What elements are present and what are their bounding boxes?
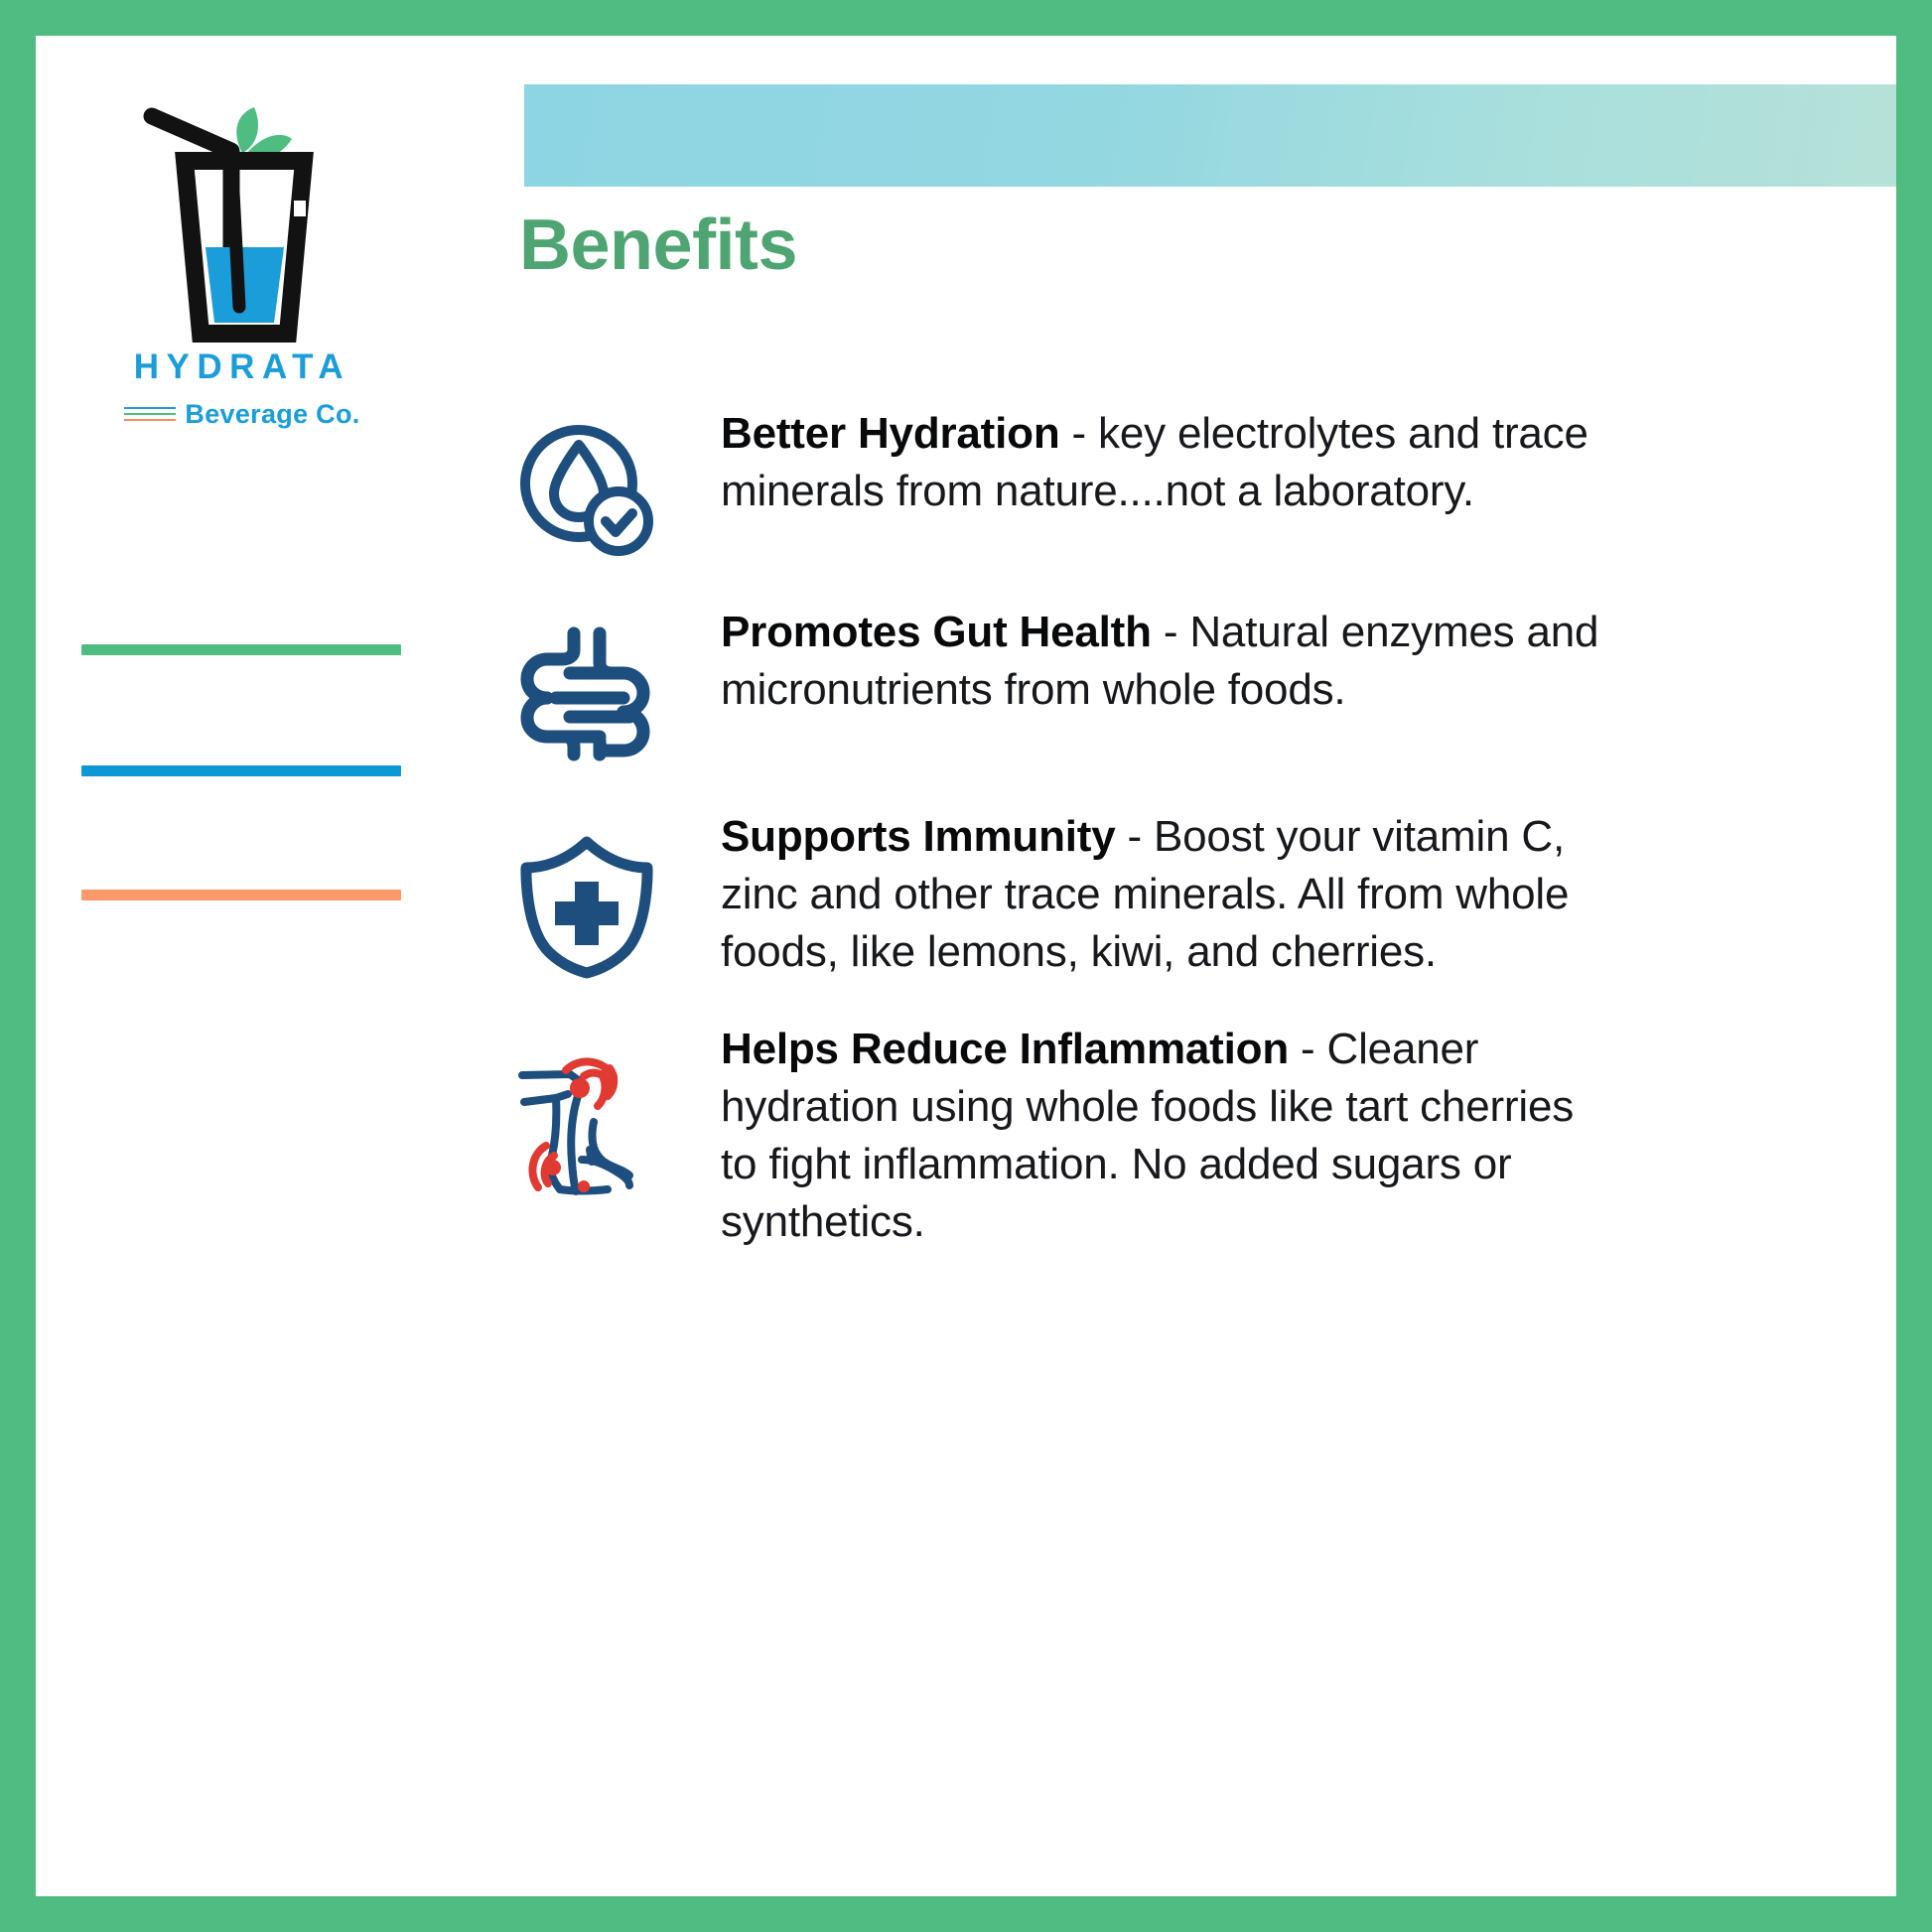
poster-canvas: HYDRATA Beverage Co. Benefits: [36, 36, 1896, 1896]
list-item: Helps Reduce Inflammation - Cleaner hydr…: [453, 1021, 1896, 1251]
benefit-title: Supports Immunity: [721, 812, 1116, 861]
list-item: Supports Immunity - Boost your vitamin C…: [453, 808, 1896, 981]
divider-orange: [81, 890, 401, 900]
poster-frame: HYDRATA Beverage Co. Benefits: [0, 0, 1932, 1932]
benefit-title: Promotes Gut Health: [721, 608, 1152, 656]
brand-tagline: Beverage Co.: [185, 399, 359, 430]
triple-line-icon: [124, 405, 176, 425]
page-title: Benefits: [519, 209, 797, 281]
benefit-separator: -: [1060, 409, 1099, 458]
benefit-separator: -: [1116, 812, 1155, 861]
joint-inflammation-icon: [453, 1021, 721, 1199]
list-item: Promotes Gut Health - Natural enzymes an…: [453, 604, 1896, 766]
list-item-text: Helps Reduce Inflammation - Cleaner hydr…: [721, 1021, 1614, 1251]
benefit-separator: -: [1289, 1025, 1327, 1073]
divider-blue: [81, 765, 401, 776]
list-item-text: Better Hydration - key electrolytes and …: [721, 405, 1614, 520]
left-sidebar: HYDRATA Beverage Co.: [36, 36, 453, 1896]
drinking-glass-with-straw-and-leaf-icon: [135, 103, 353, 344]
divider-green: [81, 644, 401, 655]
list-item-text: Promotes Gut Health - Natural enzymes an…: [721, 604, 1614, 719]
main-content: Benefits Better Hydration - key electrol…: [453, 36, 1896, 1896]
benefit-separator: -: [1152, 608, 1190, 656]
benefits-list: Better Hydration - key electrolytes and …: [453, 405, 1896, 1282]
intestine-gut-icon: [453, 604, 721, 766]
shield-medical-cross-icon: [453, 808, 721, 979]
benefit-title: Helps Reduce Inflammation: [721, 1025, 1289, 1073]
brand-tagline-row: Beverage Co.: [73, 399, 411, 430]
list-item-text: Supports Immunity - Boost your vitamin C…: [721, 808, 1614, 981]
brand-logo: HYDRATA Beverage Co.: [73, 103, 411, 431]
list-item: Better Hydration - key electrolytes and …: [453, 405, 1896, 566]
water-drop-check-icon: [453, 405, 721, 566]
brand-name: HYDRATA: [73, 349, 411, 384]
benefit-title: Better Hydration: [721, 409, 1060, 458]
